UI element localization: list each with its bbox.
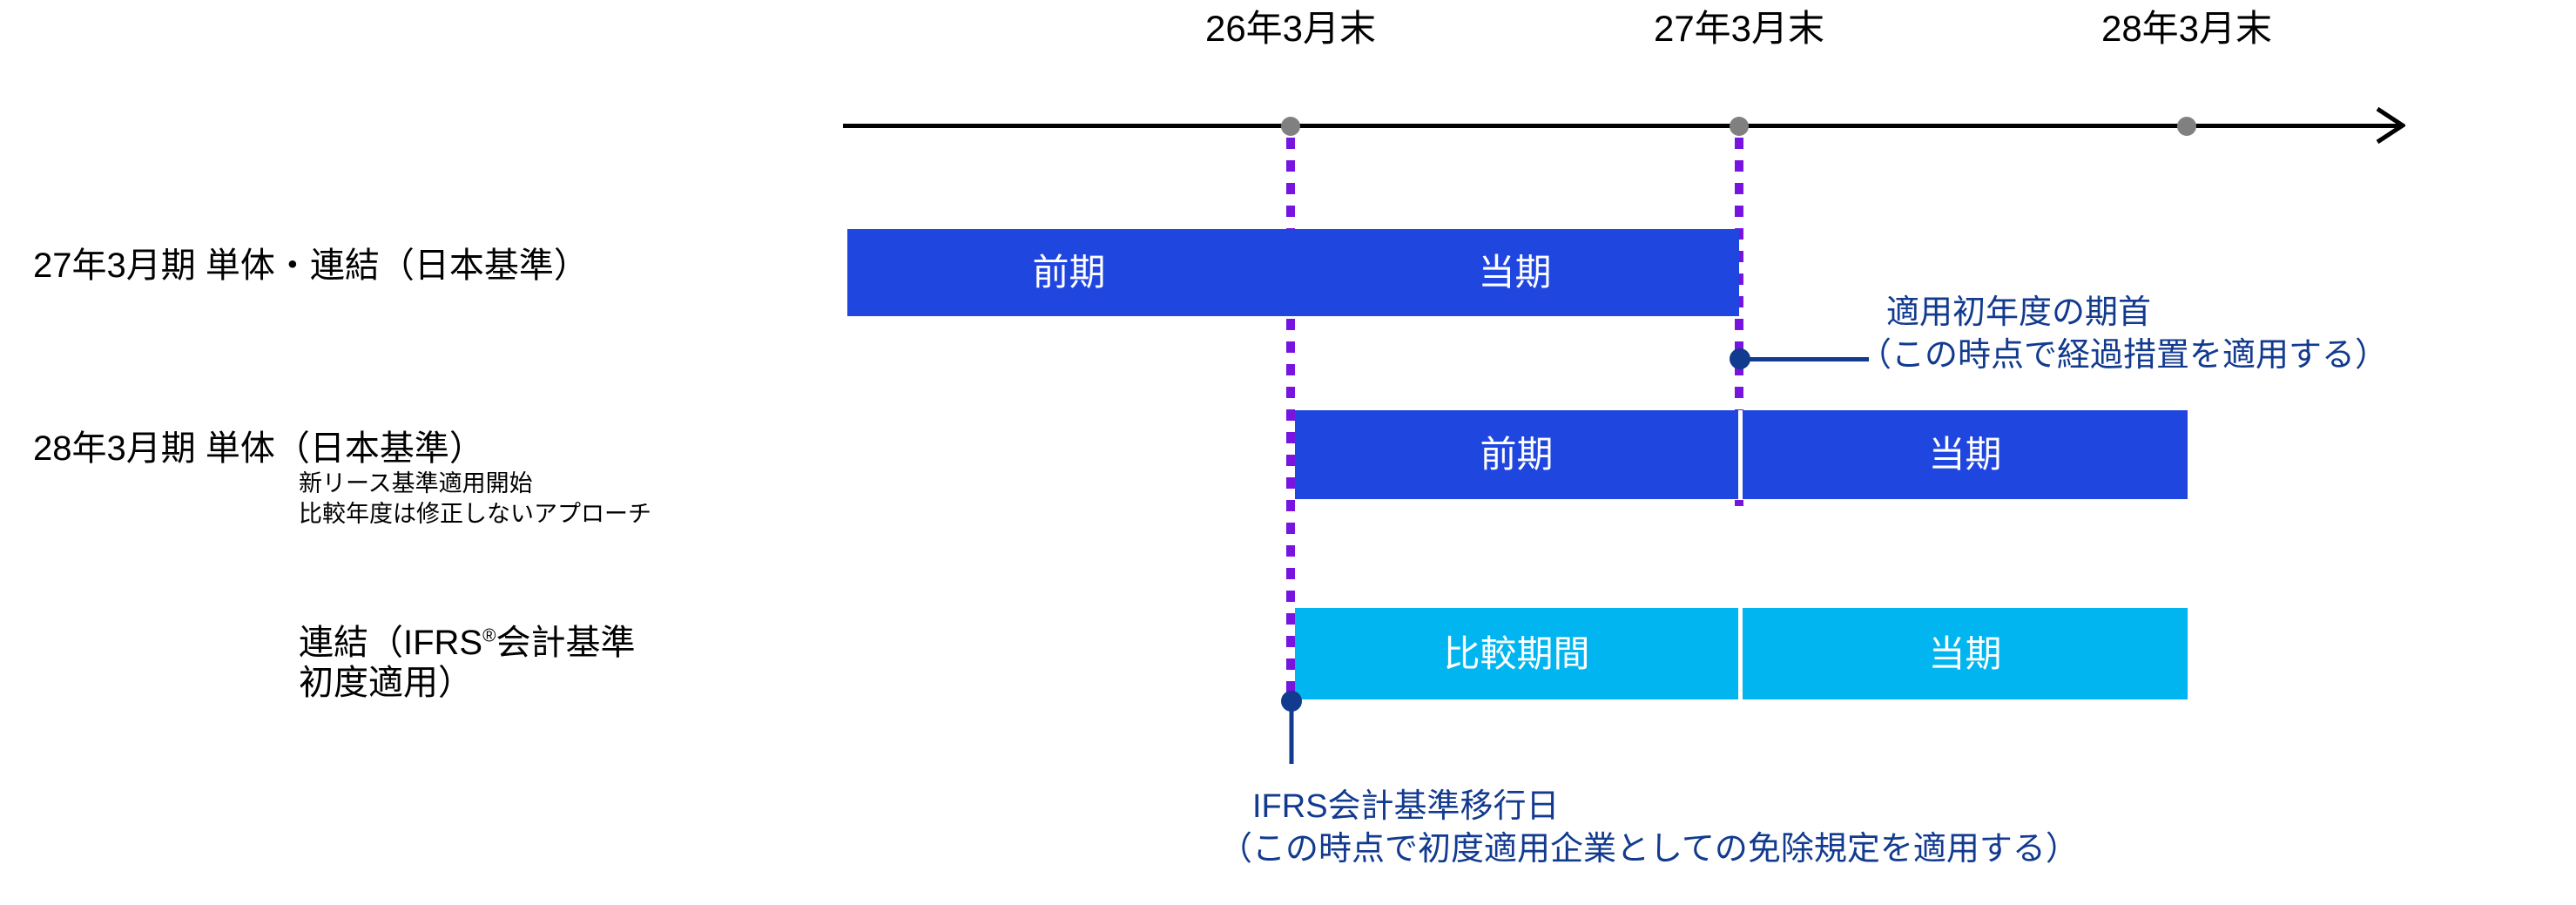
bar-row-ifrs: 比較期間 当期	[1295, 608, 2188, 699]
annotation-transition-date-line2: （この時点で初度適用企業としての免除規定を適用する）	[1219, 828, 2079, 871]
bar-segment-current-period: 当期	[1291, 229, 1739, 316]
row-label-ifrs-line2: 初度適用）	[299, 663, 635, 703]
timeline-axis	[843, 124, 2402, 128]
row-label-jp-fy28-text: 28年3月期 単体（日本基準）	[33, 429, 484, 468]
annotation-transition-date: IFRS会計基準移行日 （この時点で初度適用企業としての免除規定を適用する）	[1219, 786, 2079, 870]
row-label-jp-fy27: 27年3月期 単体・連結（日本基準）	[33, 246, 589, 286]
dotted-line-26	[1286, 138, 1295, 708]
tick-label-26: 26年3月末	[1205, 10, 1376, 47]
bar-row-jp-fy28: 前期 当期	[1295, 410, 2188, 499]
bar-segment-prev-period: 前期	[847, 229, 1291, 316]
annotation-leader-transition-date	[1290, 701, 1294, 764]
tick-marker-26	[1281, 117, 1300, 136]
bar-segment-current-period: 当期	[1743, 410, 2188, 499]
tick-label-28: 28年3月末	[2101, 10, 2272, 47]
row-sublabel-new-lease: 新リース基準適用開始	[33, 469, 651, 499]
annotation-first-year-line2: （この時点で経過措置を適用する）	[1858, 334, 2388, 377]
bar-segment-comparative-period: 比較期間	[1295, 608, 1738, 699]
bar-segment-current-period: 当期	[1743, 608, 2188, 699]
tick-marker-28	[2177, 117, 2196, 136]
right-arrow-icon	[2376, 106, 2405, 145]
bar-segment-prev-period: 前期	[1295, 410, 1738, 499]
row-label-jp-fy28: 28年3月期 単体（日本基準） 新リース基準適用開始 比較年度は修正しないアプロ…	[33, 429, 651, 530]
row-label-ifrs-line1: 連結（IFRS®会計基準	[299, 623, 635, 663]
timeline-diagram: 26年3月末 27年3月末 28年3月末 27年3月期 単体・連結（日本基準） …	[0, 0, 2576, 905]
row-sublabel-approach: 比較年度は修正しないアプローチ	[33, 499, 651, 530]
annotation-transition-date-line1: IFRS会計基準移行日	[1219, 786, 2079, 828]
row-label-jp-fy27-text: 27年3月期 単体・連結（日本基準）	[33, 247, 589, 285]
annotation-leader-first-year	[1740, 357, 1869, 361]
annotation-first-year-line1: 適用初年度の期首	[1858, 292, 2388, 334]
tick-marker-27	[1730, 117, 1749, 136]
row-label-ifrs-post: 会計基準	[496, 624, 635, 662]
row-label-ifrs: 連結（IFRS®会計基準 初度適用）	[299, 623, 635, 703]
bar-row-jp-fy27: 前期 当期	[847, 229, 1739, 316]
registered-trademark-icon: ®	[482, 626, 496, 646]
row-label-ifrs-pre: 連結（IFRS	[299, 624, 482, 662]
annotation-first-year: 適用初年度の期首 （この時点で経過措置を適用する）	[1858, 292, 2388, 376]
tick-label-27: 27年3月末	[1654, 10, 1824, 47]
